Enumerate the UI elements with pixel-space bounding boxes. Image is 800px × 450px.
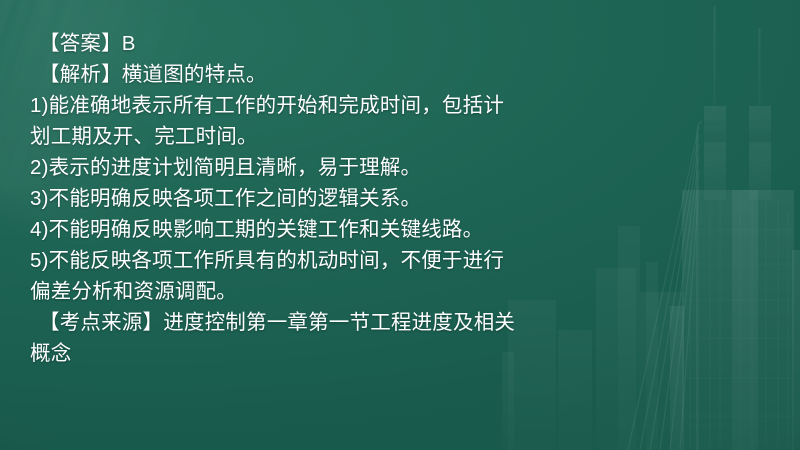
- answer-explanation-text-block: 【答案】B 【解析】横道图的特点。 1)能准确地表示所有工作的开始和完成时间，包…: [30, 28, 550, 369]
- text-line-point-1a: 1)能准确地表示所有工作的开始和完成时间，包括计: [30, 90, 550, 121]
- text-line-source-b: 概念: [30, 338, 550, 369]
- text-line-answer: 【答案】B: [30, 28, 550, 59]
- text-line-point-3: 3)不能明确反映各项工作之间的逻辑关系。: [30, 183, 550, 214]
- text-line-source-a: 【考点来源】进度控制第一章第一节工程进度及相关: [30, 307, 550, 338]
- text-line-point-4: 4)不能明确反映影响工期的关键工作和关键线路。: [30, 214, 550, 245]
- slide-canvas: 【答案】B 【解析】横道图的特点。 1)能准确地表示所有工作的开始和完成时间，包…: [0, 0, 800, 450]
- text-line-analysis: 【解析】横道图的特点。: [30, 59, 550, 90]
- text-line-point-5b: 偏差分析和资源调配。: [30, 276, 550, 307]
- text-line-point-1b: 划工期及开、完工时间。: [30, 121, 550, 152]
- text-line-point-5a: 5)不能反映各项工作所具有的机动时间，不便于进行: [30, 245, 550, 276]
- text-line-point-2: 2)表示的进度计划简明且清晰，易于理解。: [30, 152, 550, 183]
